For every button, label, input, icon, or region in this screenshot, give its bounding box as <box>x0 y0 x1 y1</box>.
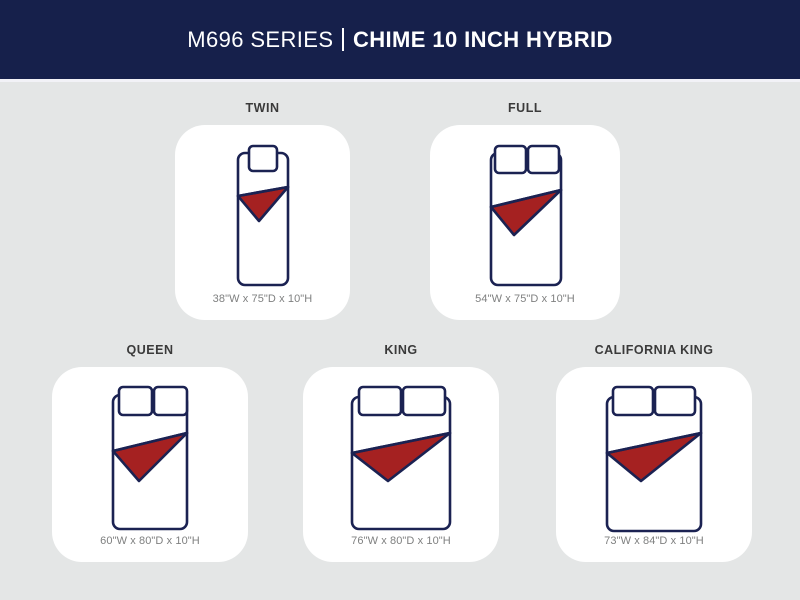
pillow-icon-1 <box>495 146 526 173</box>
size-label-queen: QUEEN <box>52 342 248 359</box>
bed-illustration-twin <box>175 147 350 287</box>
size-dimensions-twin: 38"W x 75"D x 10"H <box>175 293 350 305</box>
bed-diagram-twin <box>217 145 309 289</box>
bed-illustration-king <box>303 387 499 529</box>
size-cell-full[interactable]: FULL 54"W x 75"D x 10"H <box>430 100 620 320</box>
page-title: M696 SERIES CHIME 10 INCH HYBRID <box>187 27 613 53</box>
pillow-icon-2 <box>528 146 559 173</box>
size-card-full[interactable]: 54"W x 75"D x 10"H <box>430 125 620 320</box>
bed-diagram-full <box>471 145 579 289</box>
size-label-full: FULL <box>430 100 620 117</box>
size-dimensions-full: 54"W x 75"D x 10"H <box>430 293 620 305</box>
size-grid: TWIN 38"W x 75"D x 10"H FULL <box>0 82 800 600</box>
page-header: M696 SERIES CHIME 10 INCH HYBRID <box>0 0 800 79</box>
bed-diagram-california-king <box>591 385 717 531</box>
pillow-icon-1 <box>359 387 401 415</box>
pillow-icon-2 <box>403 387 445 415</box>
size-card-king[interactable]: 76"W x 80"D x 10"H <box>303 367 499 562</box>
mattress-shape <box>238 153 288 285</box>
size-dimensions-king: 76"W x 80"D x 10"H <box>303 535 499 547</box>
size-label-california-king: CALIFORNIA KING <box>556 342 752 359</box>
pillow-icon-1 <box>119 387 152 415</box>
model-name: CHIME 10 INCH HYBRID <box>353 27 613 53</box>
size-cell-queen[interactable]: QUEEN 60"W x 80"D x 10"H <box>52 342 248 562</box>
size-dimensions-queen: 60"W x 80"D x 10"H <box>52 535 248 547</box>
title-separator-icon <box>342 28 344 51</box>
bed-illustration-queen <box>52 387 248 529</box>
pillow-icon-1 <box>613 387 653 415</box>
bed-diagram-king <box>336 385 466 531</box>
size-card-california-king[interactable]: 73"W x 84"D x 10"H <box>556 367 752 562</box>
series-name: M696 SERIES <box>187 27 333 53</box>
pillow-icon-2 <box>655 387 695 415</box>
pillow-icon-1 <box>249 146 277 171</box>
size-label-twin: TWIN <box>175 100 350 117</box>
bed-diagram-queen <box>91 385 209 531</box>
bed-illustration-california-king <box>556 387 752 529</box>
pillow-icon-2 <box>154 387 187 415</box>
bed-illustration-full <box>430 147 620 287</box>
size-cell-california-king[interactable]: CALIFORNIA KING 73"W x 84"D x 10"H <box>556 342 752 562</box>
size-cell-king[interactable]: KING 76"W x 80"D x 10"H <box>303 342 499 562</box>
size-card-twin[interactable]: 38"W x 75"D x 10"H <box>175 125 350 320</box>
size-dimensions-california-king: 73"W x 84"D x 10"H <box>556 535 752 547</box>
size-cell-twin[interactable]: TWIN 38"W x 75"D x 10"H <box>175 100 350 320</box>
size-label-king: KING <box>303 342 499 359</box>
size-card-queen[interactable]: 60"W x 80"D x 10"H <box>52 367 248 562</box>
